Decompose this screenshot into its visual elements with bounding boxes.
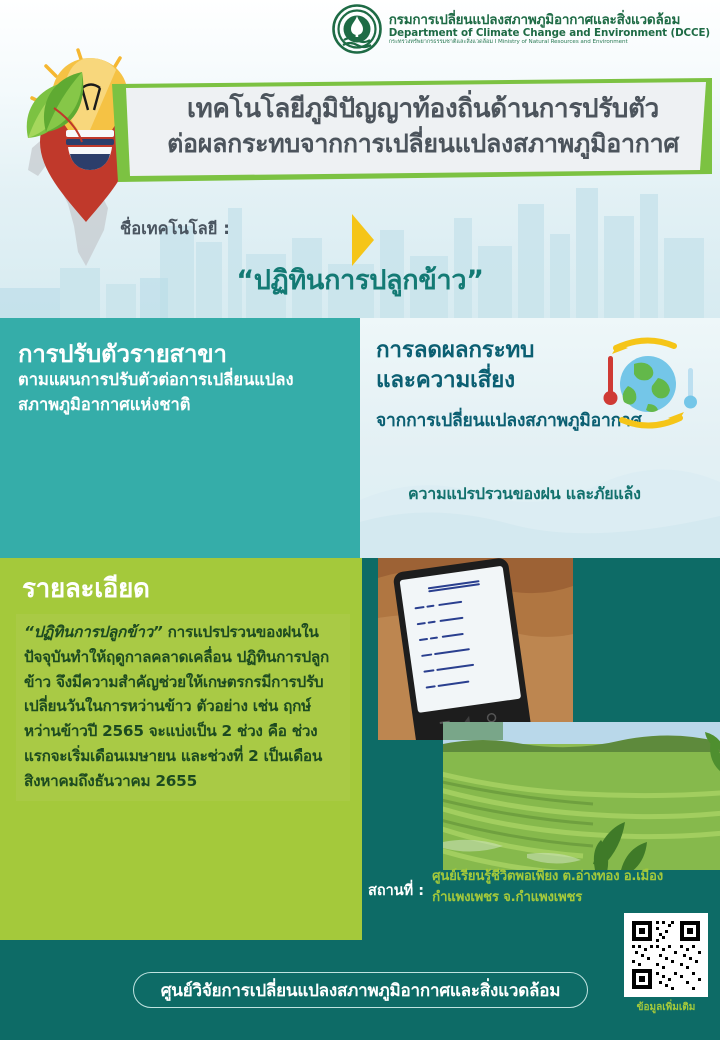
smartphone-photo <box>378 558 573 740</box>
details-panel: รายละเอียด “ปฏิทินการปลูกข้าว” การแปรปรว… <box>0 558 362 940</box>
adaptation-subheading: ตามแผนการปรับตัวต่อการเปลี่ยนแปลง สภาพภู… <box>18 368 354 418</box>
place-value: ศูนย์เรียนรู้ชีวิตพอเพียง ต.อ่างทอง อ.เม… <box>432 866 663 909</box>
header-area: เทคโนโลยีภูมิปัญญาท้องถิ่นด้านการปรับตัว… <box>0 0 720 318</box>
org-ministry: กระทรวงทรัพยากรธรรมชาติและสิ่งแวดล้อม I … <box>389 39 710 45</box>
details-heading: รายละเอียด <box>22 568 150 609</box>
details-lead: “ปฏิทินการปลูกข้าว” <box>24 623 163 641</box>
qr-caption: ข้อมูลเพิ่มเติม <box>624 1000 708 1015</box>
adaptation-sub-line-2: สภาพภูมิอากาศแห่งชาติ <box>18 393 354 418</box>
mitigation-heading-line-1: การลดผลกระทบ <box>376 336 534 366</box>
mitigation-subtitle: ความแปรปรวนของฝน และภัยแล้ง <box>408 482 641 507</box>
details-arrow-icon <box>352 214 374 266</box>
banner-text: เทคโนโลยีภูมิปัญญาท้องถิ่นด้านการปรับตัว… <box>158 92 688 160</box>
tech-label: ชื่อเทคโนโลยี : <box>120 216 230 242</box>
rice-paddy-photo <box>443 722 720 870</box>
logo-text-block: กรมการเปลี่ยนแปลงสภาพภูมิอากาศและสิ่งแวด… <box>389 13 710 46</box>
qr-code-icon <box>628 917 704 993</box>
dcce-logo: กรมการเปลี่ยนแปลงสภาพภูมิอากาศและสิ่งแวด… <box>332 4 710 54</box>
footer-text: ศูนย์วิจัยการเปลี่ยนแปลงสภาพภูมิอากาศและ… <box>161 977 561 1004</box>
place-line-1: ศูนย์เรียนรู้ชีวิตพอเพียง ต.อ่างทอง อ.เม… <box>432 866 663 887</box>
thermometer-cold-icon <box>684 368 697 409</box>
qr-code-box[interactable] <box>624 913 708 997</box>
banner-line-2: ต่อผลกระทบจากการเปลี่ยนแปลงสภาพภูมิอากาศ <box>158 127 688 161</box>
thermometer-hot-icon <box>604 356 618 405</box>
globe-thermometer-icon <box>592 334 704 434</box>
rice-field-photo <box>443 722 720 870</box>
poster-root: เทคโนโลยีภูมิปัญญาท้องถิ่นด้านการปรับตัว… <box>0 0 720 1040</box>
adaptation-sub-line-1: ตามแผนการปรับตัวต่อการเปลี่ยนแปลง <box>18 368 354 393</box>
mitigation-panel: การลดผลกระทบ และความเสี่ยง จากการเปลี่ยน… <box>360 318 720 558</box>
banner-line-1: เทคโนโลยีภูมิปัญญาท้องถิ่นด้านการปรับตัว <box>158 92 688 127</box>
place-info: สถานที่ : ศูนย์เรียนรู้ชีวิตพอเพียง ต.อ่… <box>368 866 718 909</box>
place-line-2: กำแพงเพชร จ.กำแพงเพชร <box>432 887 663 908</box>
details-body: “ปฏิทินการปลูกข้าว” การแปรปรวนของฝนในปัจ… <box>16 614 350 801</box>
phone-calendar-photo <box>378 558 573 740</box>
title-banner: เทคโนโลยีภูมิปัญญาท้องถิ่นด้านการปรับตัว… <box>112 78 712 182</box>
mitigation-heading-line-2: และความเสี่ยง <box>376 366 534 396</box>
dcce-emblem-icon <box>332 4 382 54</box>
mitigation-heading: การลดผลกระทบ และความเสี่ยง <box>376 336 534 395</box>
adaptation-sector-panel: การปรับตัวรายสาขา ตามแผนการปรับตัวต่อการ… <box>0 318 360 558</box>
footer-pill: ศูนย์วิจัยการเปลี่ยนแปลงสภาพภูมิอากาศและ… <box>133 972 588 1008</box>
org-name-th: กรมการเปลี่ยนแปลงสภาพภูมิอากาศและสิ่งแวด… <box>389 13 710 28</box>
org-name-en: Department of Climate Change and Environ… <box>389 28 710 40</box>
details-text: การแปรปรวนของฝนในปัจจุบันทำให้ฤดูกาลคลาด… <box>24 623 329 790</box>
place-label: สถานที่ : <box>368 866 424 909</box>
